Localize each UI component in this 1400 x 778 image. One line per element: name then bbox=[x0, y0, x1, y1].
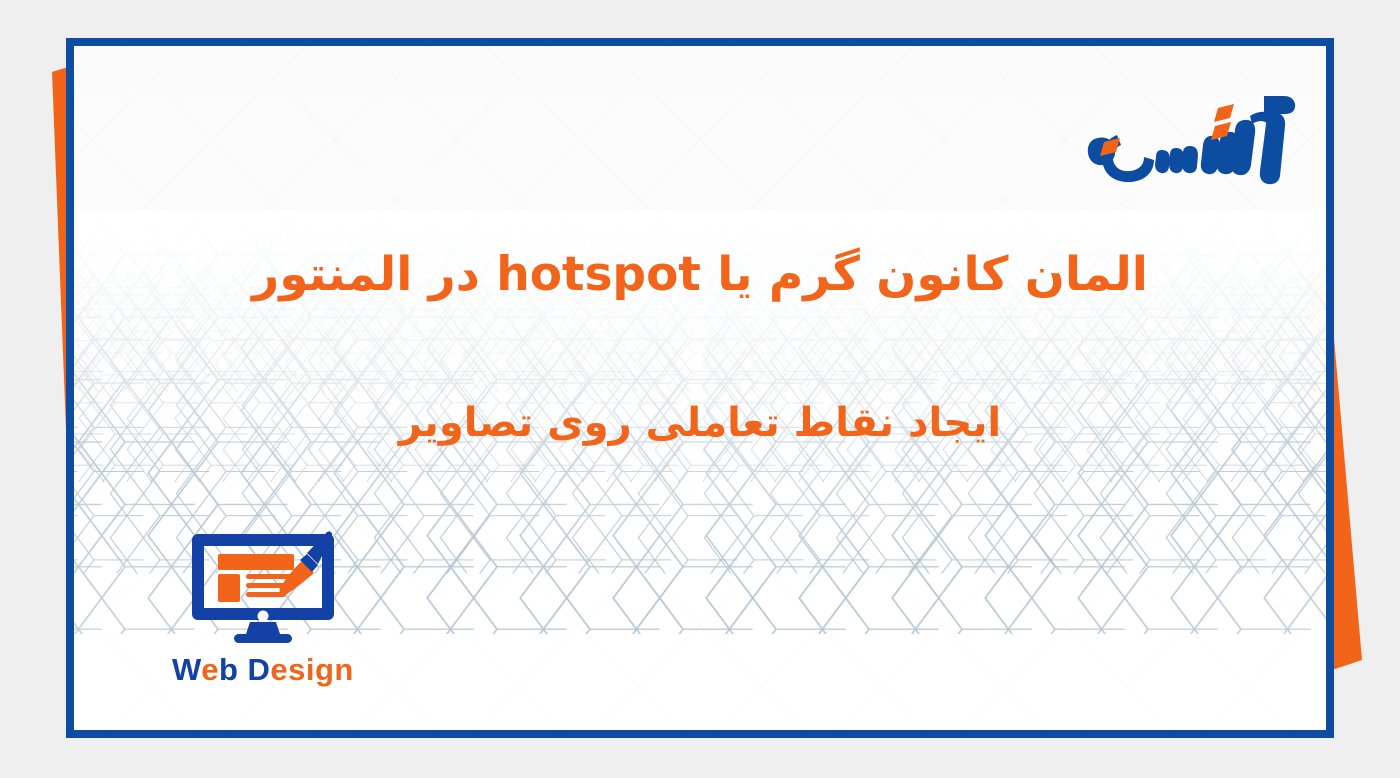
badge-letter-e: e bbox=[201, 652, 219, 687]
badge-letter-w: W bbox=[172, 652, 201, 687]
web-design-badge: Web Design bbox=[172, 526, 354, 688]
content-card: المان کانون گرم یا hotspot در المنتور ای… bbox=[66, 38, 1334, 738]
arza-rasaneh-logo bbox=[1058, 90, 1298, 186]
slide-canvas: المان کانون گرم یا hotspot در المنتور ای… bbox=[0, 0, 1400, 778]
badge-letters-esign: esign bbox=[270, 652, 353, 687]
badge-space bbox=[238, 652, 247, 687]
monitor-paintbrush-icon bbox=[172, 526, 354, 646]
headings-block: المان کانون گرم یا hotspot در المنتور ای… bbox=[74, 246, 1326, 449]
badge-letter-d: D bbox=[248, 652, 271, 687]
web-design-label: Web Design bbox=[172, 652, 354, 688]
badge-letter-b: b bbox=[219, 652, 238, 687]
page-title: المان کانون گرم یا hotspot در المنتور bbox=[74, 246, 1326, 305]
page-subtitle: ایجاد نقاط تعاملی روی تصاویر bbox=[74, 397, 1326, 449]
